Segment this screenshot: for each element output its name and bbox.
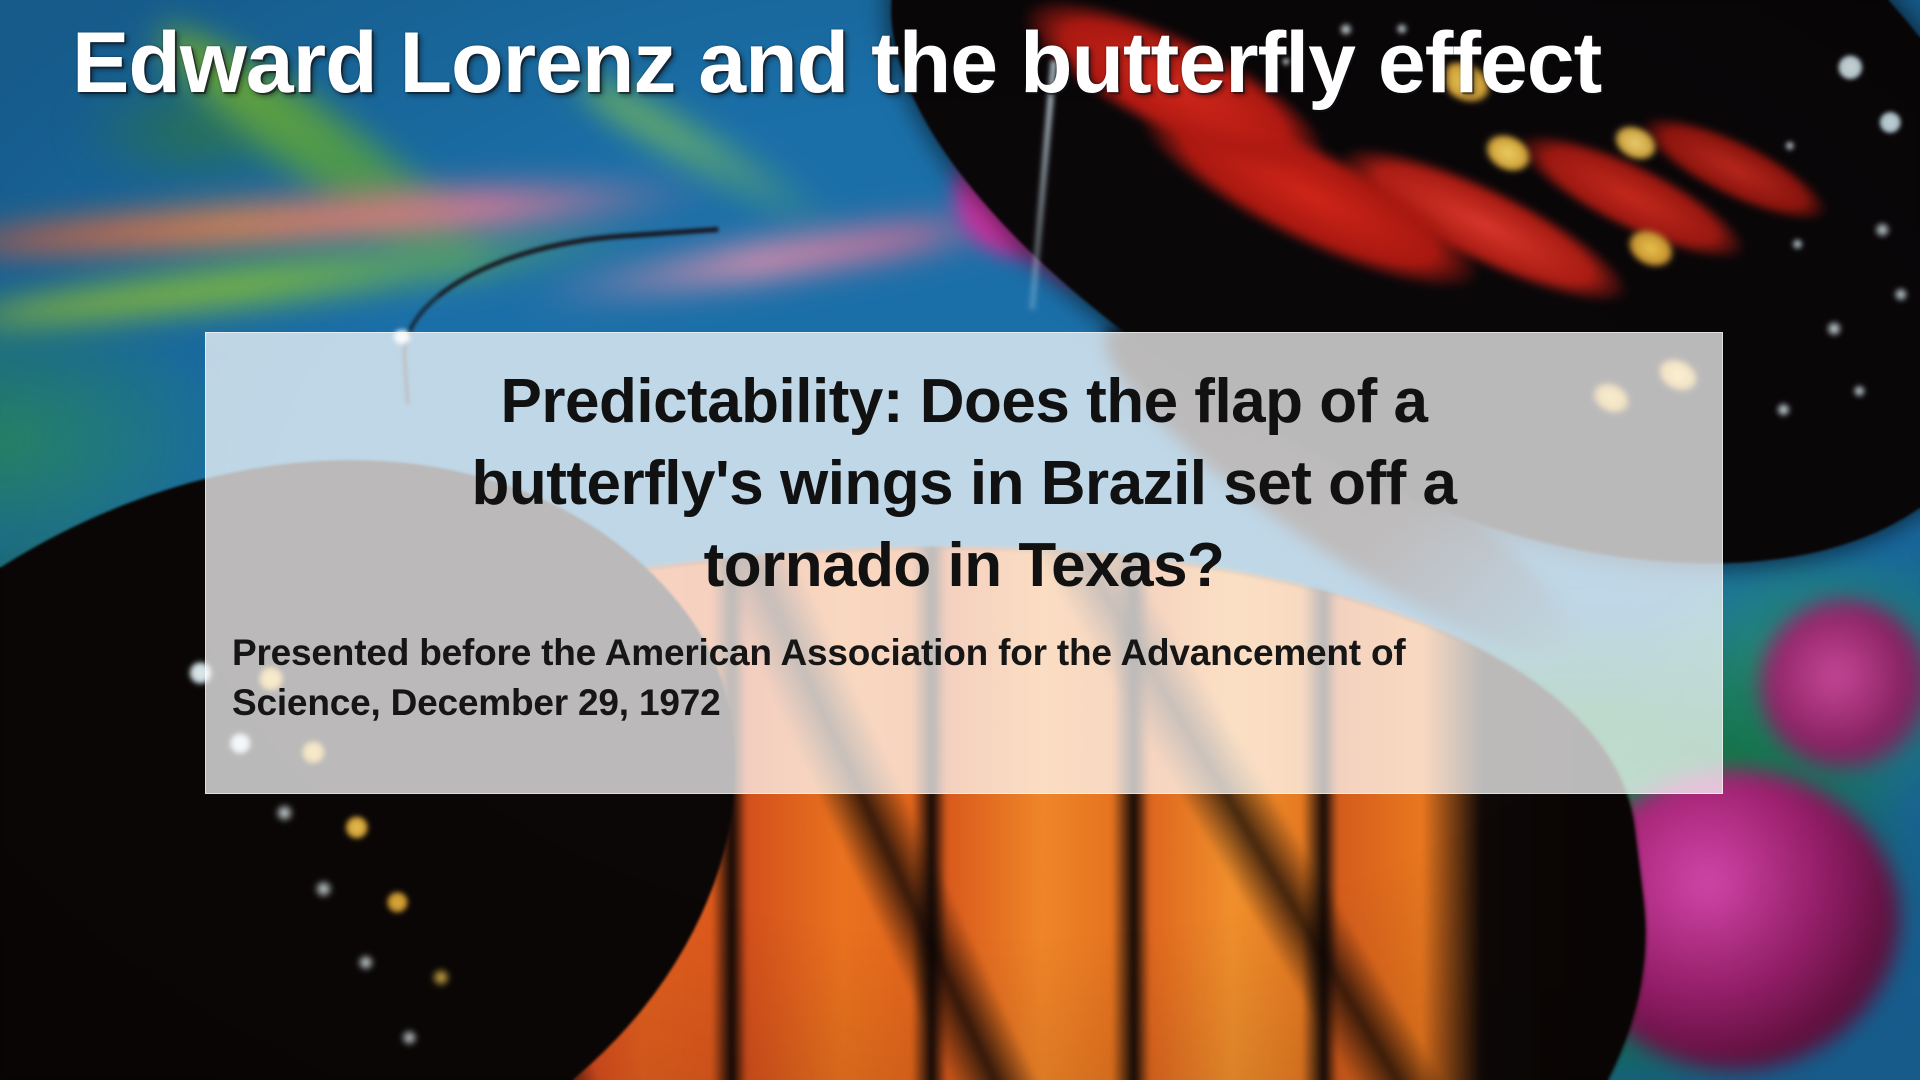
headline-line-2: butterfly's wings in Brazil set off a [232,443,1696,525]
headline-line-3: tornado in Texas? [232,525,1696,607]
subtitle-line-2: Science, December 29, 1972 [232,678,1696,728]
presentation-slide: Edward Lorenz and the butterfly effect P… [0,0,1920,1080]
slide-title: Edward Lorenz and the butterfly effect [72,18,1872,108]
content-box: Predictability: Does the flap of a butte… [205,332,1723,794]
headline-line-1: Predictability: Does the flap of a [232,361,1696,443]
subtitle-line-1: Presented before the American Associatio… [232,628,1696,678]
flower-blossom-7 [1760,600,1920,770]
